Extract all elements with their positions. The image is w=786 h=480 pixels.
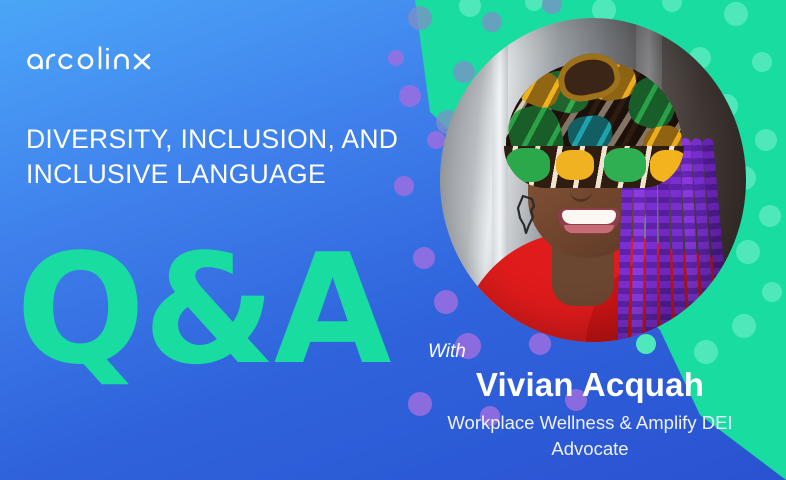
speaker-name: Vivian Acquah [410, 366, 770, 404]
speaker-role-line-1: Workplace Wellness & Amplify DEI [410, 410, 770, 436]
purple-dot [413, 247, 435, 269]
page-title: DIVERSITY, INCLUSION, AND INCLUSIVE LANG… [26, 122, 426, 192]
speaker-portrait [440, 18, 746, 342]
portrait-vignette [440, 18, 746, 342]
webinar-promo-slide: DIVERSITY, INCLUSION, AND INCLUSIVE LANG… [0, 0, 786, 480]
purple-dot [388, 50, 404, 66]
speaker-role-line-2: Advocate [410, 436, 770, 462]
title-line-1: DIVERSITY, INCLUSION, AND [26, 122, 426, 157]
acrolinx-logo[interactable] [27, 44, 177, 78]
qa-heading: Q&A [16, 234, 389, 386]
title-line-2: INCLUSIVE LANGUAGE [26, 157, 426, 192]
portrait-illustration [440, 18, 746, 342]
with-label: With [428, 341, 466, 363]
speaker-role: Workplace Wellness & Amplify DEI Advocat… [410, 410, 770, 461]
purple-dot [399, 85, 421, 107]
